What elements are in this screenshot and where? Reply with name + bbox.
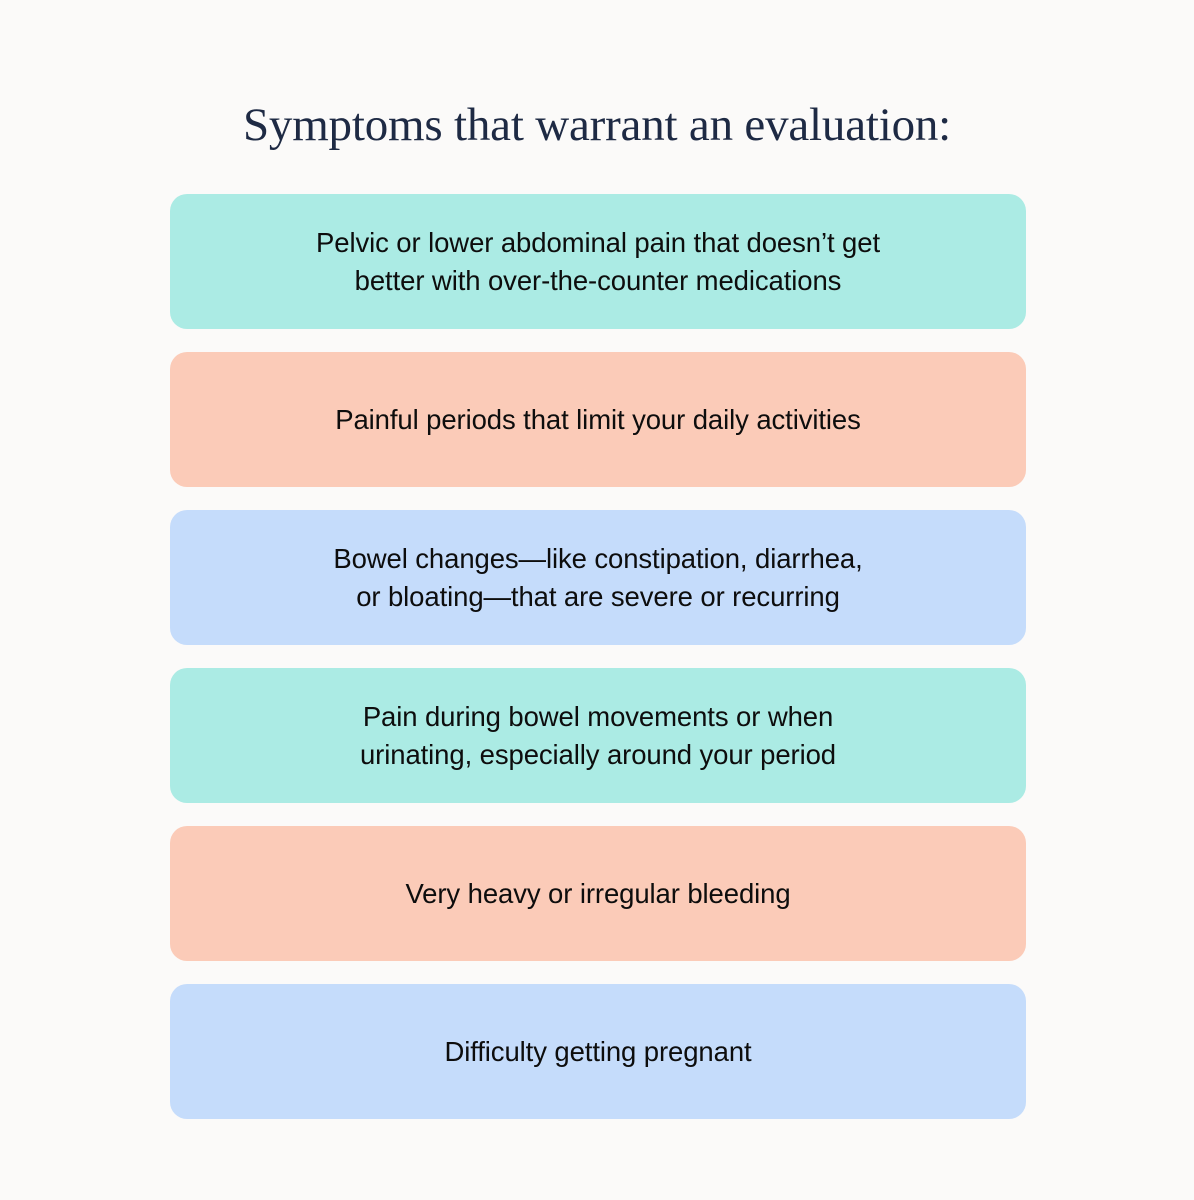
symptom-card: Very heavy or irregular bleeding (170, 826, 1026, 961)
symptom-card: Pelvic or lower abdominal pain that does… (170, 194, 1026, 329)
symptom-card-text: Pain during bowel movements or when urin… (218, 698, 978, 774)
symptom-card-list: Pelvic or lower abdominal pain that does… (170, 194, 1026, 1119)
symptoms-infographic: Symptoms that warrant an evaluation: Pel… (0, 0, 1194, 1200)
symptom-card-text: Pelvic or lower abdominal pain that does… (218, 224, 978, 300)
page-title: Symptoms that warrant an evaluation: (0, 99, 1194, 152)
symptom-card-text: Difficulty getting pregnant (218, 1033, 978, 1071)
symptom-card: Difficulty getting pregnant (170, 984, 1026, 1119)
symptom-card-text: Bowel changes—like constipation, diarrhe… (218, 540, 978, 616)
symptom-card-text: Very heavy or irregular bleeding (218, 875, 978, 913)
symptom-card: Pain during bowel movements or when urin… (170, 668, 1026, 803)
symptom-card-text: Painful periods that limit your daily ac… (218, 401, 978, 439)
symptom-card: Bowel changes—like constipation, diarrhe… (170, 510, 1026, 645)
symptom-card: Painful periods that limit your daily ac… (170, 352, 1026, 487)
